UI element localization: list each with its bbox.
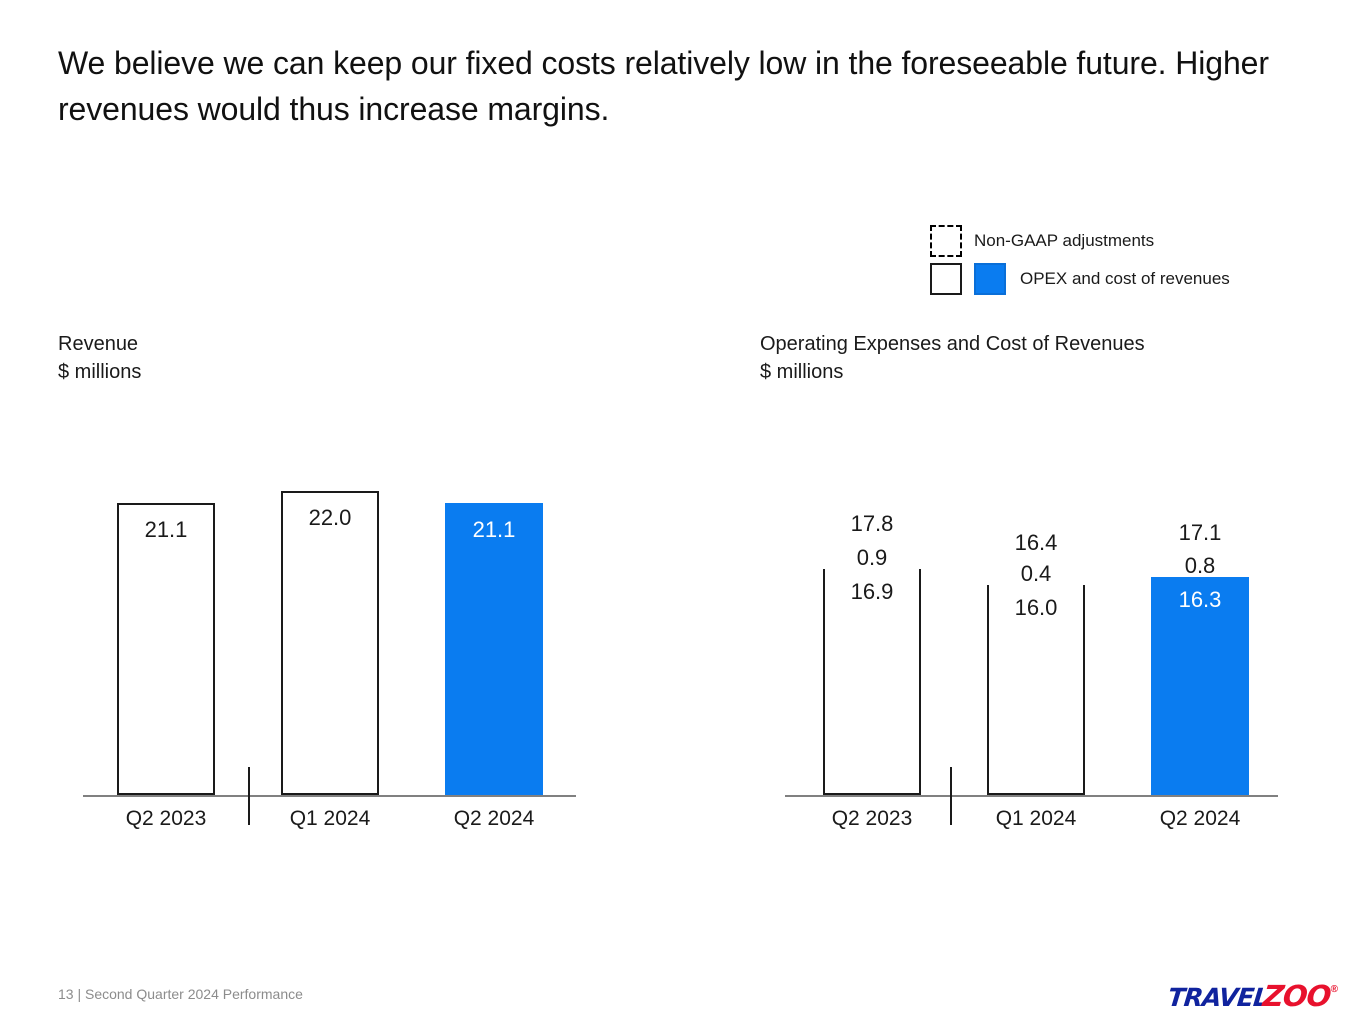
chart-opex-xlabel-q2-2023: Q2 2023 xyxy=(792,806,952,832)
legend-item-opex-and-cost-of-revenues: OPEX and cost of revenues xyxy=(930,262,1230,296)
footer-slide-info: 13 | Second Quarter 2024 Performance xyxy=(58,986,303,1002)
chart-opex-bar-q2-2024[interactable]: 17.1 0.8 16.3 xyxy=(1151,558,1249,795)
chart-opex-bar-q2-2023-total: 17.8 xyxy=(823,513,921,535)
chart-opex-bar-q2-2024-adj-value: 0.8 xyxy=(1151,555,1249,577)
chart-revenue-title: Revenue xyxy=(58,330,678,358)
chart-revenue-plot: 21.1 22.0 21.1 Q2 2023 Q1 2024 Q2 2024 xyxy=(58,400,678,840)
chart-revenue-bar-q2-2024-value: 21.1 xyxy=(445,519,543,541)
registered-trademark-icon: ® xyxy=(1331,984,1337,995)
chart-revenue-bar-q2-2023-value: 21.1 xyxy=(117,519,215,541)
legend-item-non-gaap-adjustments: Non-GAAP adjustments xyxy=(930,224,1154,258)
chart-opex: Operating Expenses and Cost of Revenues … xyxy=(760,330,1365,840)
chart-revenue-bar-q1-2024-value: 22.0 xyxy=(281,507,379,529)
chart-opex-axis-line xyxy=(785,795,1278,797)
chart-opex-bar-q1-2024-base-value: 16.0 xyxy=(987,597,1085,619)
chart-revenue-xlabel-q2-2024: Q2 2024 xyxy=(414,806,574,832)
legend-swatch-blue-icon xyxy=(974,263,1006,295)
page-title: We believe we can keep our fixed costs r… xyxy=(58,40,1288,132)
travelzoo-logo: TRAVEL ZOO ® xyxy=(1168,979,1337,1009)
chart-opex-plot: 17.8 0.9 16.9 16.4 0.4 16.0 17.1 0.8 16.… xyxy=(760,400,1365,840)
chart-opex-bar-q2-2023[interactable]: 17.8 0.9 16.9 xyxy=(823,549,921,795)
chart-opex-xlabel-q2-2024: Q2 2024 xyxy=(1120,806,1280,832)
chart-revenue-bar-q2-2023[interactable]: 21.1 xyxy=(117,503,215,795)
chart-opex-xlabel-q1-2024: Q1 2024 xyxy=(956,806,1116,832)
chart-revenue-bar-q2-2024[interactable]: 21.1 xyxy=(445,503,543,795)
chart-opex-bar-q1-2024-adj-value: 0.4 xyxy=(987,563,1085,585)
chart-revenue-xlabel-q1-2024: Q1 2024 xyxy=(250,806,410,832)
chart-revenue-axis-line xyxy=(83,795,576,797)
chart-revenue-xlabel-q2-2023: Q2 2023 xyxy=(86,806,246,832)
legend-label-non-gaap: Non-GAAP adjustments xyxy=(974,231,1154,251)
chart-opex-bar-q1-2024[interactable]: 16.4 0.4 16.0 xyxy=(987,568,1085,795)
chart-opex-bar-q2-2023-adj-value: 0.9 xyxy=(823,547,921,569)
logo-text-zoo: ZOO xyxy=(1261,979,1332,1013)
chart-revenue-subtitle: $ millions xyxy=(58,358,678,386)
logo-text-travel: TRAVEL xyxy=(1166,983,1269,1012)
legend-swatch-dashed-icon xyxy=(930,225,962,257)
legend-label-opex: OPEX and cost of revenues xyxy=(1020,269,1230,289)
legend-swatch-white-icon xyxy=(930,263,962,295)
chart-opex-bar-q1-2024-total: 16.4 xyxy=(987,532,1085,554)
chart-revenue: Revenue $ millions 21.1 22.0 21.1 Q2 202… xyxy=(58,330,678,840)
chart-opex-bar-q2-2024-total: 17.1 xyxy=(1151,522,1249,544)
chart-opex-bar-q2-2023-base-value: 16.9 xyxy=(823,581,921,603)
chart-revenue-bar-q1-2024-body xyxy=(281,491,379,795)
chart-opex-title: Operating Expenses and Cost of Revenues xyxy=(760,330,1365,358)
chart-opex-bar-q2-2024-base-value: 16.3 xyxy=(1151,589,1249,611)
chart-opex-subtitle: $ millions xyxy=(760,358,1365,386)
chart-revenue-bar-q2-2024-body xyxy=(445,503,543,795)
chart-revenue-bar-q1-2024[interactable]: 22.0 xyxy=(281,491,379,795)
chart-revenue-bar-q2-2023-body xyxy=(117,503,215,795)
